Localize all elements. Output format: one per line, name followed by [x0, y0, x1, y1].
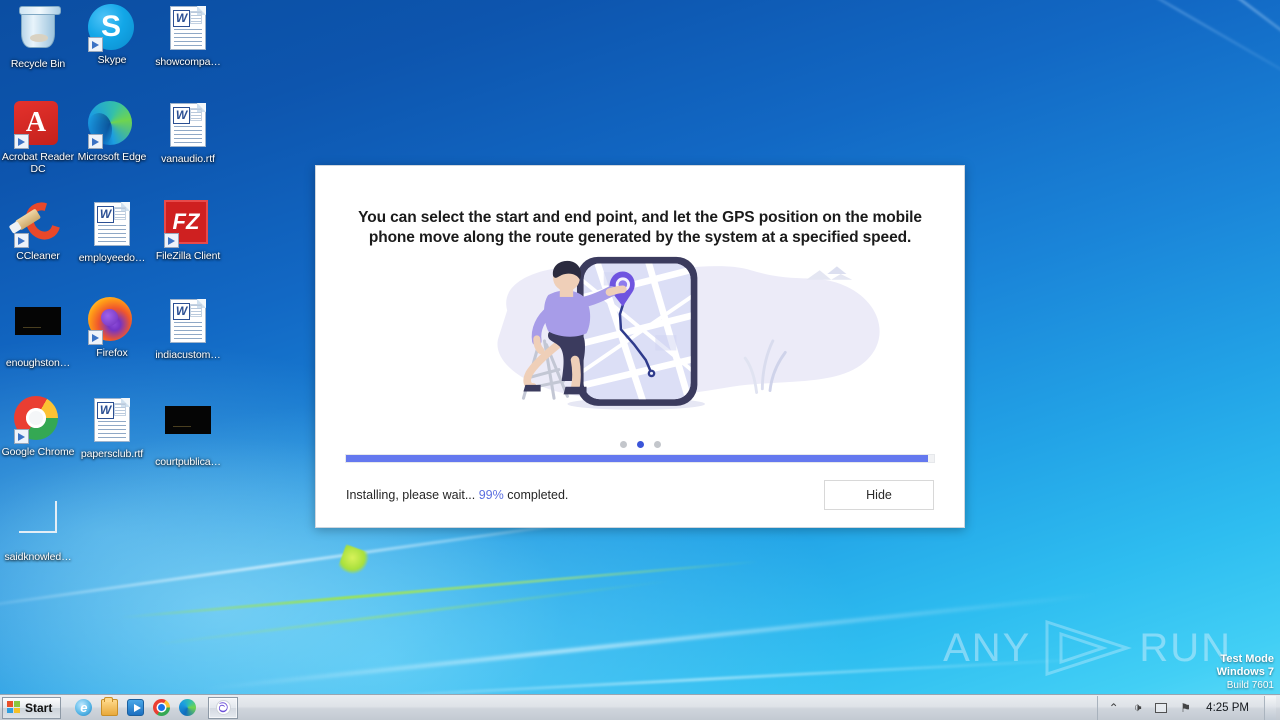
desktop-icon[interactable]: Acrobat Reader DC: [0, 101, 76, 175]
installer-window-button[interactable]: [208, 697, 238, 719]
start-button[interactable]: Start: [2, 697, 61, 719]
progress-fill: [346, 455, 928, 462]
status-suffix: completed.: [507, 488, 568, 502]
internet-explorer-icon[interactable]: [75, 699, 92, 716]
desktop-icon[interactable]: Windiacustom…: [150, 297, 226, 362]
edge-icon: [88, 101, 136, 149]
installer-status-text: Installing, please wait... 99% completed…: [346, 488, 568, 502]
desktop-icon-label: Microsoft Edge: [74, 152, 150, 164]
desktop-icon-label: employeedo…: [74, 253, 150, 265]
installer-dialog[interactable]: You can select the start and end point, …: [315, 165, 965, 528]
desktop-icon[interactable]: CCleaner: [0, 200, 76, 263]
desktop-icon-label: courtpublica…: [150, 457, 226, 469]
installer-headline: You can select the start and end point, …: [356, 208, 924, 247]
desktop-icon-label: Google Chrome: [0, 447, 76, 459]
desktop-icon[interactable]: Wvanaudio.rtf: [150, 101, 226, 166]
desktop-icon[interactable]: saidknowled…: [0, 493, 76, 564]
white-thumb-icon: [14, 501, 62, 549]
acrobat-icon: [14, 101, 62, 149]
shortcut-arrow-icon: [14, 429, 29, 444]
network-icon[interactable]: [1154, 700, 1169, 715]
recycle-bin-icon: [14, 8, 62, 56]
desktop-icon-label: CCleaner: [0, 251, 76, 263]
word-doc-icon: W: [164, 103, 212, 151]
desktop-icon[interactable]: enoughston…: [0, 297, 76, 370]
installer-footer: Installing, please wait... 99% completed…: [316, 463, 964, 527]
desktop-icon-label: papersclub.rtf: [74, 449, 150, 461]
microsoft-edge-icon[interactable]: [179, 699, 196, 716]
carousel-dot[interactable]: [654, 441, 661, 448]
status-percent: 99%: [479, 488, 504, 502]
wallpaper-streak: [1024, 0, 1280, 102]
action-center-flag-icon[interactable]: [1178, 700, 1193, 715]
chrome-icon: [14, 396, 62, 444]
desktop-icon[interactable]: Microsoft Edge: [74, 101, 150, 164]
play-triangle-icon: [1037, 618, 1133, 678]
filezilla-icon: [164, 200, 212, 248]
quick-launch-bar[interactable]: [75, 699, 196, 716]
anyrun-watermark: ANY RUN: [943, 618, 1232, 678]
shortcut-arrow-icon: [14, 134, 29, 149]
shortcut-arrow-icon: [164, 233, 179, 248]
desktop-icon-label: showcompa…: [150, 57, 226, 69]
desktop-icon[interactable]: courtpublica…: [150, 396, 226, 469]
word-doc-icon: W: [164, 299, 212, 347]
carousel-dots[interactable]: [316, 441, 964, 448]
clock[interactable]: 4:25 PM: [1202, 702, 1253, 714]
black-thumb-icon: [14, 307, 62, 355]
test-mode-line3: Build 7601: [1217, 679, 1274, 692]
wallpaper-streak: [1005, 0, 1280, 101]
desktop-icon-label: saidknowled…: [0, 552, 76, 564]
carousel-dot-active[interactable]: [637, 441, 644, 448]
google-chrome-icon[interactable]: [153, 699, 170, 716]
desktop-icon-label: Skype: [74, 55, 150, 67]
firefox-icon: [88, 297, 136, 345]
desktop-icon[interactable]: Firefox: [74, 297, 150, 360]
desktop-icon-label: Acrobat Reader DC: [0, 152, 76, 175]
taskbar[interactable]: Start 4:25 PM: [0, 694, 1280, 720]
carousel-dot[interactable]: [620, 441, 627, 448]
word-doc-icon: W: [88, 202, 136, 250]
desktop-icon-label: vanaudio.rtf: [150, 154, 226, 166]
windows-logo-icon: [7, 701, 21, 714]
desktop-icon[interactable]: Wpapersclub.rtf: [74, 396, 150, 461]
shortcut-arrow-icon: [88, 37, 103, 52]
progress-area: [316, 454, 964, 463]
desktop-icon-label: enoughston…: [0, 358, 76, 370]
gps-route-phone-illustration: [316, 253, 964, 454]
illustration-svg: [316, 253, 966, 425]
progress-track: [345, 454, 935, 463]
watermark-any-text: ANY: [943, 626, 1031, 671]
desktop-icon[interactable]: Google Chrome: [0, 396, 76, 459]
start-button-label: Start: [25, 701, 52, 715]
word-doc-icon: W: [88, 398, 136, 446]
desktop[interactable]: Recycle BinSkypeWshowcompa…Acrobat Reade…: [0, 0, 1280, 720]
shortcut-arrow-icon: [88, 134, 103, 149]
desktop-icon[interactable]: Recycle Bin: [0, 4, 76, 71]
system-tray[interactable]: 4:25 PM: [1097, 696, 1280, 720]
test-mode-line2: Windows 7: [1217, 666, 1274, 679]
word-doc-icon: W: [164, 6, 212, 54]
hide-button[interactable]: Hide: [824, 480, 934, 510]
test-mode-line1: Test Mode: [1217, 653, 1274, 666]
black-thumb-icon: [164, 406, 212, 454]
status-prefix: Installing, please wait...: [346, 488, 475, 502]
desktop-icon[interactable]: Wshowcompa…: [150, 4, 226, 69]
test-mode-watermark: Test Mode Windows 7 Build 7601: [1217, 653, 1274, 692]
desktop-icon-label: Recycle Bin: [0, 59, 76, 71]
show-hidden-icons-icon[interactable]: [1106, 700, 1121, 715]
desktop-icon-label: FileZilla Client: [150, 251, 226, 263]
desktop-icon-label: Firefox: [74, 348, 150, 360]
shortcut-arrow-icon: [88, 330, 103, 345]
volume-icon[interactable]: [1130, 700, 1145, 715]
ccleaner-icon: [14, 200, 62, 248]
desktop-icon[interactable]: FileZilla Client: [150, 200, 226, 263]
windows-explorer-icon[interactable]: [101, 699, 118, 716]
desktop-icon[interactable]: Skype: [74, 4, 150, 67]
windows-media-player-icon[interactable]: [127, 699, 144, 716]
skype-icon: [88, 4, 136, 52]
installer-app-icon: [216, 700, 231, 715]
shortcut-arrow-icon: [14, 233, 29, 248]
desktop-icon-label: indiacustom…: [150, 350, 226, 362]
show-desktop-button[interactable]: [1264, 696, 1276, 720]
desktop-icon[interactable]: Wemployeedo…: [74, 200, 150, 265]
